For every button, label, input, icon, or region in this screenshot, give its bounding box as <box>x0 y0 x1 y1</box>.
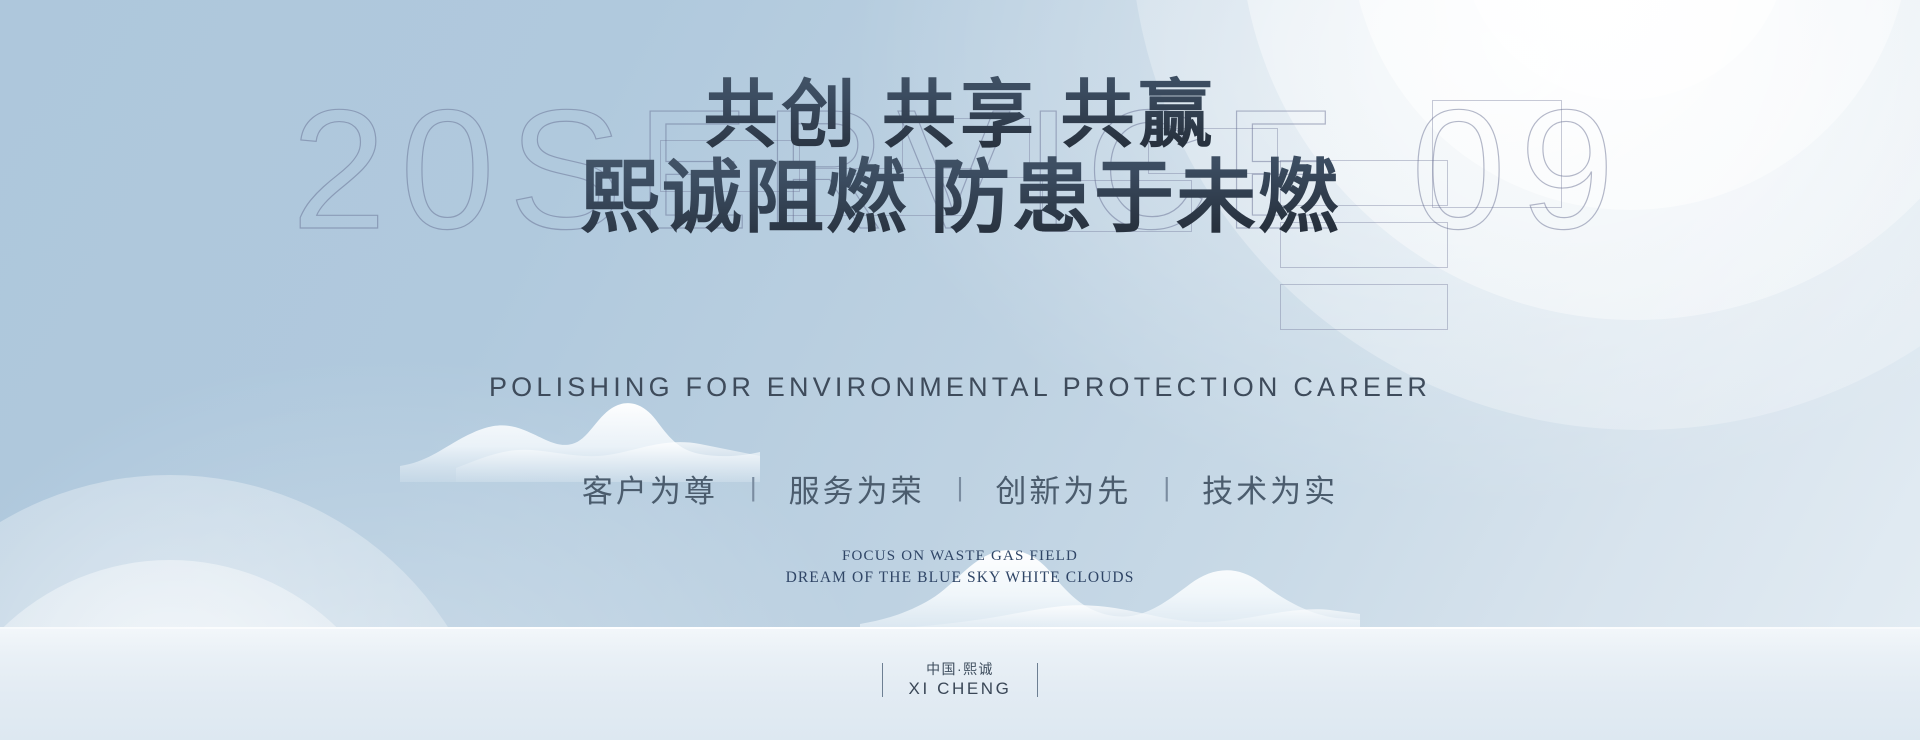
value-item-2: 服务为荣 <box>763 466 951 511</box>
logo-english-name: XI CHENG <box>909 679 1012 700</box>
micro-tagline-block: FOCUS ON WASTE GAS FIELD DREAM OF THE BL… <box>0 546 1920 588</box>
english-subtitle: POLISHING FOR ENVIRONMENTAL PROTECTION C… <box>0 372 1920 403</box>
value-separator-3: | <box>1157 472 1176 503</box>
micro-tagline-line-2: DREAM OF THE BLUE SKY WHITE CLOUDS <box>0 568 1920 588</box>
values-row: 客户为尊 | 服务为荣 | 创新为先 | 技术为实 <box>0 466 1920 511</box>
headline-block: 共创 共享 共赢 熙诚阻燃 防患于未燃 <box>0 74 1920 244</box>
value-item-1: 客户为尊 <box>556 466 744 511</box>
value-separator-1: | <box>744 472 763 503</box>
headline-line-1: 共创 共享 共赢 <box>0 74 1920 158</box>
headline-line-2: 熙诚阻燃 防患于未燃 <box>0 154 1920 244</box>
logo-rule-left <box>882 663 883 697</box>
value-separator-2: | <box>951 472 970 503</box>
logo-chinese-name: 中国·熙诚 <box>909 661 1012 678</box>
micro-tagline-line-1: FOCUS ON WASTE GAS FIELD <box>0 546 1920 566</box>
value-item-3: 创新为先 <box>969 466 1157 511</box>
brand-logo: 中国·熙诚 XI CHENG <box>0 661 1920 700</box>
horizon-edge-line <box>0 627 1920 629</box>
hero-banner: 20SERVICE 09 <box>0 0 1920 740</box>
logo-rule-right <box>1037 663 1038 697</box>
logo-text: 中国·熙诚 XI CHENG <box>909 661 1012 700</box>
value-item-4: 技术为实 <box>1176 466 1364 511</box>
